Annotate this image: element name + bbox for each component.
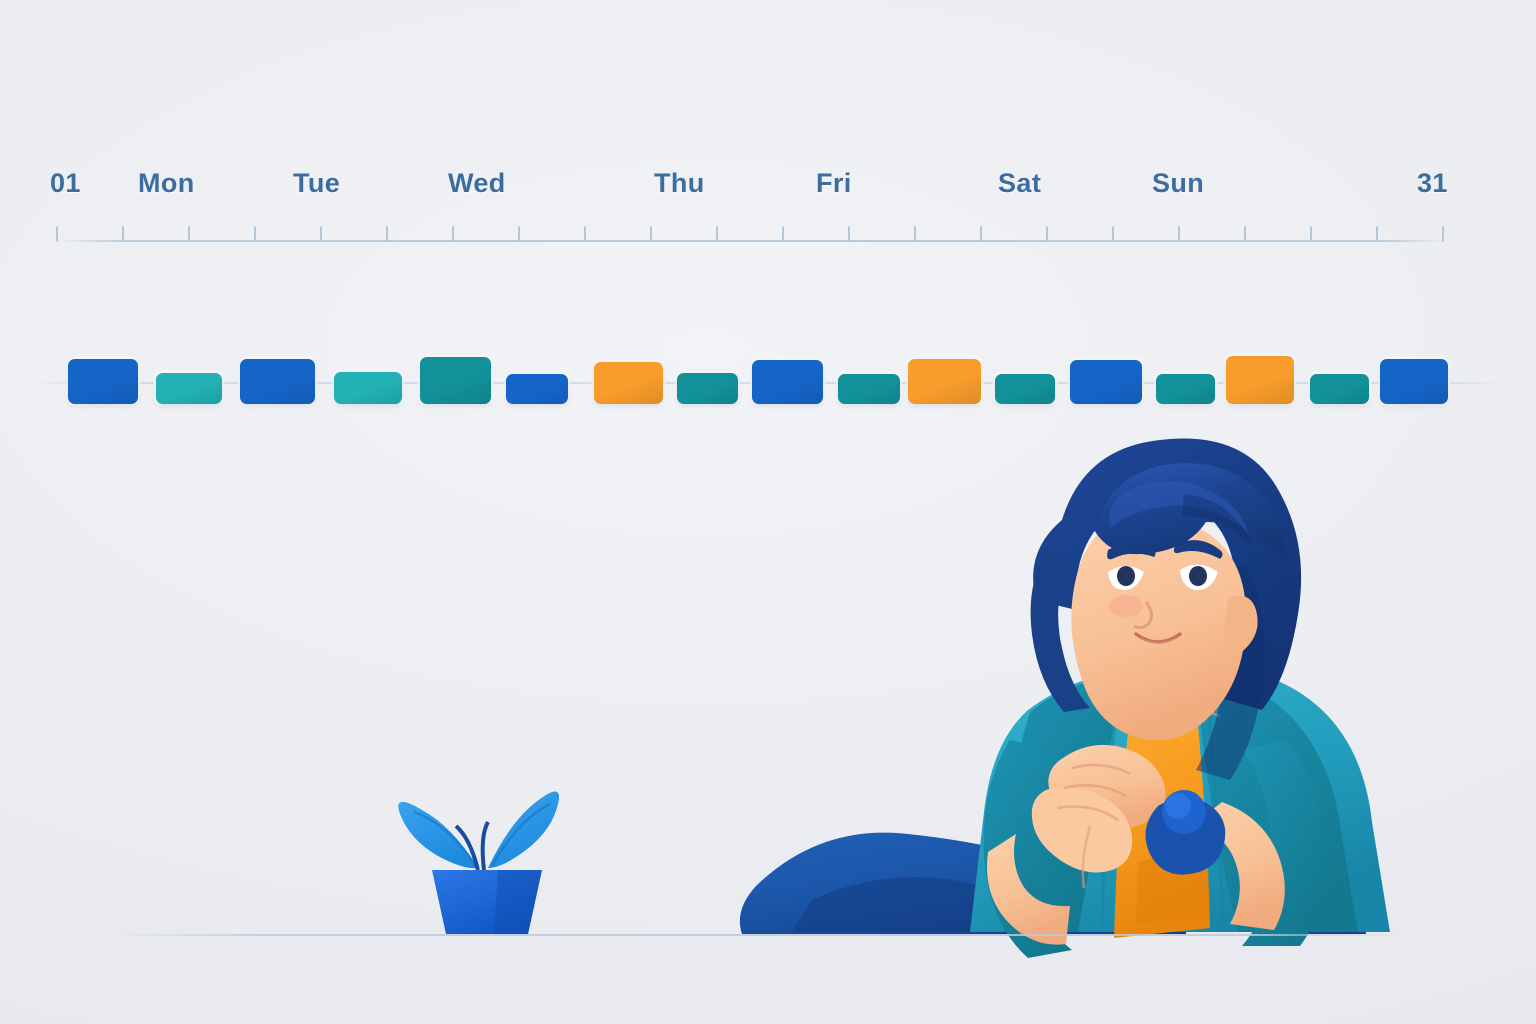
- flat-illustration: [0, 0, 1536, 1024]
- ground-line: [110, 934, 1410, 936]
- illustration-svg: [0, 0, 1536, 1024]
- illustration-canvas: 01MonTueWedThuFriSatSun31: [0, 0, 1536, 1024]
- potted-plant: [398, 791, 559, 934]
